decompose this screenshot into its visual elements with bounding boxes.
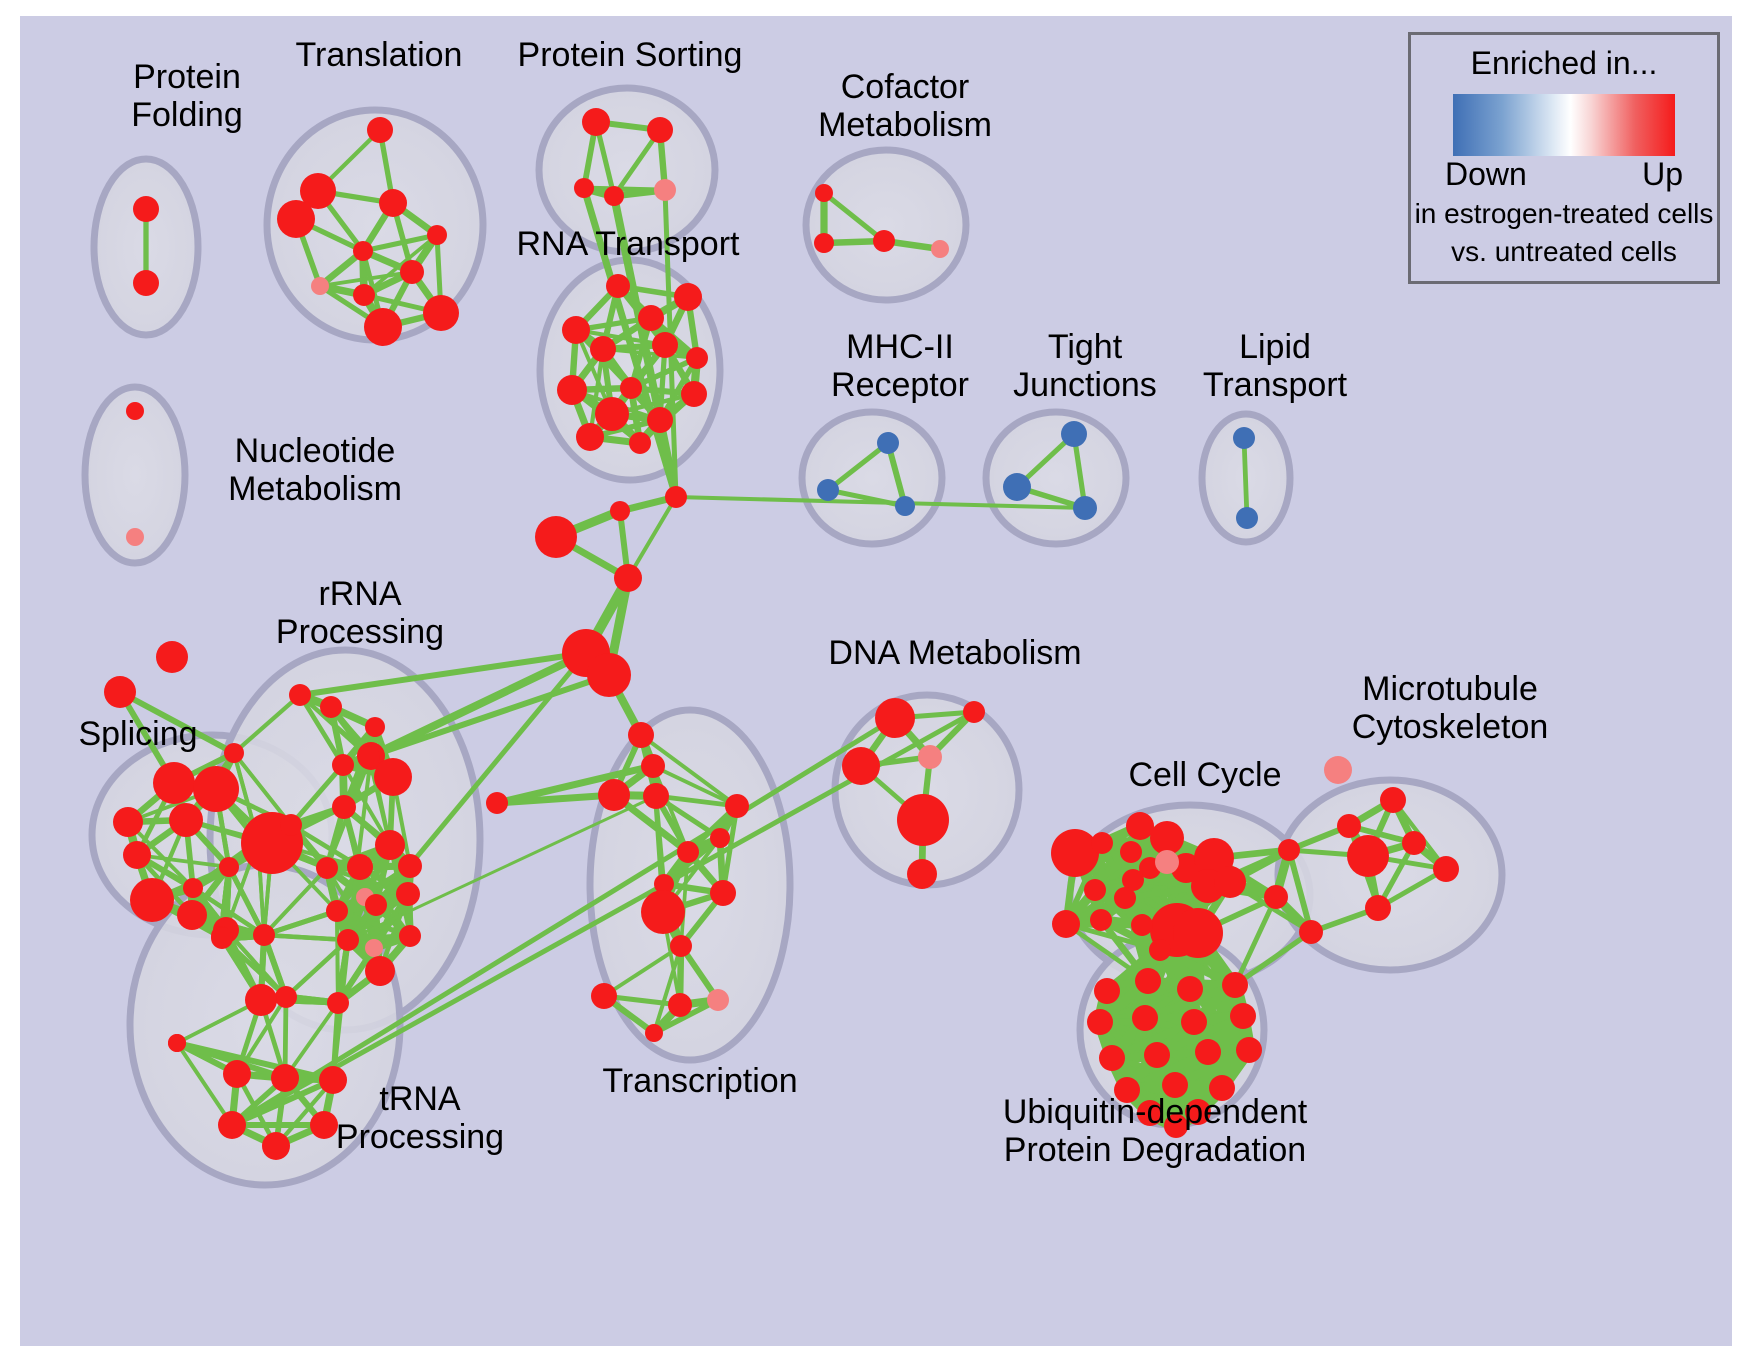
network-node[interactable] [126,528,144,546]
network-node[interactable] [641,754,665,778]
cluster-label-rrna_processing: rRNA Processing [250,575,470,651]
figure-canvas: Protein FoldingTranslationNucleotide Met… [0,0,1750,1360]
network-node[interactable] [598,779,630,811]
network-node[interactable] [327,992,349,1014]
network-node[interactable] [364,308,402,346]
cluster-label-nucleotide_metabolism: Nucleotide Metabolism [190,432,440,508]
network-node[interactable] [277,200,315,238]
network-node[interactable] [670,935,692,957]
network-node[interactable] [1073,496,1097,520]
network-node[interactable] [224,743,244,763]
network-node[interactable] [177,900,207,930]
network-node[interactable] [365,717,385,737]
network-node[interactable] [130,878,174,922]
network-node[interactable] [931,240,949,258]
network-node[interactable] [126,402,144,420]
network-node[interactable] [1236,507,1258,529]
network-node[interactable] [817,479,839,501]
network-node[interactable] [1061,421,1087,447]
network-node[interactable] [365,956,395,986]
cluster-label-microtubule_cytoskeleton: Microtubule Cytoskeleton [1310,670,1590,746]
network-node[interactable] [1278,839,1300,861]
network-node[interactable] [1230,1003,1256,1029]
network-node[interactable] [591,983,617,1009]
network-node[interactable] [347,854,373,880]
network-node[interactable] [1099,1045,1125,1071]
cluster-ellipse-mhc2_receptor [802,412,942,544]
network-node[interactable] [629,432,651,454]
legend-title: Enriched in... [1411,45,1717,82]
network-node[interactable] [223,1060,251,1088]
network-node[interactable] [332,754,354,776]
network-node[interactable] [156,641,188,673]
network-node[interactable] [873,230,895,252]
cluster-label-transcription: Transcription [575,1062,825,1100]
network-node[interactable] [1195,1039,1221,1065]
network-node[interactable] [211,927,233,949]
cluster-label-protein_sorting: Protein Sorting [500,36,760,74]
network-node[interactable] [280,814,302,836]
network-node[interactable] [253,924,275,946]
network-node[interactable] [374,758,412,796]
legend-high-label: Up [1642,156,1683,193]
cluster-label-lipid_transport: Lipid Transport [1175,328,1375,404]
network-node[interactable] [316,857,338,879]
network-node[interactable] [875,698,915,738]
network-node[interactable] [1051,829,1099,877]
network-node[interactable] [897,794,949,846]
network-node[interactable] [1084,879,1106,901]
network-node[interactable] [1132,1005,1158,1031]
network-node[interactable] [353,241,373,261]
network-node[interactable] [353,284,375,306]
network-node[interactable] [104,676,136,708]
cluster-label-tight_junctions: Tight Junctions [985,328,1185,404]
network-node[interactable] [1299,920,1323,944]
network-node[interactable] [1214,866,1246,898]
cluster-label-ubiquitin_degradation: Ubiquitin-dependent Protein Degradation [985,1093,1325,1169]
network-node[interactable] [638,305,664,331]
network-node[interactable] [1087,1009,1113,1035]
network-node[interactable] [486,792,508,814]
legend-panel: Enriched in... Down Up in estrogen-treat… [1408,32,1720,284]
network-node[interactable] [365,939,383,957]
network-node[interactable] [1233,427,1255,449]
network-node[interactable] [400,260,424,284]
network-node[interactable] [647,407,673,433]
network-node[interactable] [1324,756,1352,784]
network-node[interactable] [907,859,937,889]
network-node[interactable] [113,807,143,837]
cluster-ellipse-cofactor_metabolism [806,150,966,300]
network-node[interactable] [677,841,699,863]
network-node[interactable] [595,397,629,431]
network-node[interactable] [1222,972,1248,998]
network-node[interactable] [535,516,577,558]
network-node[interactable] [133,196,159,222]
network-node[interactable] [153,762,195,804]
network-node[interactable] [1052,910,1080,938]
network-node[interactable] [1173,908,1223,958]
network-node[interactable] [815,184,833,202]
network-node[interactable] [275,986,297,1008]
legend-caption-line-2: vs. untreated cells [1411,235,1717,269]
network-node[interactable] [842,747,880,785]
cluster-label-protein_folding: Protein Folding [82,58,292,134]
network-node[interactable] [707,989,729,1011]
network-node[interactable] [358,746,380,768]
network-node[interactable] [262,1132,290,1160]
network-node[interactable] [219,857,239,877]
network-node[interactable] [610,501,630,521]
network-node[interactable] [133,270,159,296]
network-node[interactable] [1131,914,1153,936]
network-node[interactable] [123,841,151,869]
network-node[interactable] [574,178,594,198]
cluster-label-trna_processing: tRNA Processing [310,1080,530,1156]
network-node[interactable] [877,432,899,454]
network-node[interactable] [168,1034,186,1052]
network-node[interactable] [654,179,676,201]
cluster-label-mhc2_receptor: MHC-II Receptor [800,328,1000,404]
network-node[interactable] [1090,909,1112,931]
network-node[interactable] [1337,814,1361,838]
network-node[interactable] [399,925,421,947]
network-node[interactable] [332,795,356,819]
network-node[interactable] [193,766,239,812]
network-node[interactable] [337,929,359,951]
network-node[interactable] [1120,841,1142,863]
network-node[interactable] [674,283,702,311]
network-node[interactable] [245,984,277,1016]
network-node[interactable] [271,1064,299,1092]
network-node[interactable] [1135,968,1161,994]
network-node[interactable] [686,347,708,369]
network-node[interactable] [1433,856,1459,882]
network-node[interactable] [1094,978,1120,1004]
network-node[interactable] [1347,835,1389,877]
network-node[interactable] [576,423,604,451]
network-node[interactable] [1402,831,1426,855]
network-node[interactable] [1003,473,1031,501]
network-node[interactable] [590,336,616,362]
network-node[interactable] [681,381,707,407]
network-node[interactable] [645,1024,663,1042]
network-node[interactable] [367,117,393,143]
network-node[interactable] [379,189,407,217]
network-node[interactable] [365,894,387,916]
network-node[interactable] [320,696,342,718]
network-node[interactable] [665,486,687,508]
network-node[interactable] [1114,887,1136,909]
legend-gradient-bar [1453,94,1675,156]
network-node[interactable] [218,1111,246,1139]
network-node[interactable] [1181,1009,1207,1035]
network-node[interactable] [1264,885,1288,909]
network-node[interactable] [620,377,642,399]
network-node[interactable] [604,186,624,206]
network-node[interactable] [375,830,405,860]
network-node[interactable] [643,783,669,809]
network-node[interactable] [628,722,654,748]
network-node[interactable] [1365,895,1391,921]
network-node[interactable] [183,878,203,898]
network-node[interactable] [1150,821,1184,855]
network-node[interactable] [311,277,329,295]
legend-low-label: Down [1445,156,1527,193]
cluster-label-splicing: Splicing [58,715,218,753]
network-node[interactable] [652,332,678,358]
network-node[interactable] [1126,812,1154,840]
network-node[interactable] [895,496,915,516]
network-node[interactable] [606,274,630,298]
network-node[interactable] [647,117,673,143]
cluster-label-cell_cycle: Cell Cycle [1105,756,1305,794]
network-node[interactable] [668,993,692,1017]
network-node[interactable] [326,900,348,922]
cluster-label-dna_metabolism: DNA Metabolism [815,634,1095,672]
network-node[interactable] [169,803,203,837]
cluster-label-translation: Translation [264,36,494,74]
network-node[interactable] [1155,850,1179,874]
network-node[interactable] [963,701,985,723]
network-node[interactable] [396,882,420,906]
network-node[interactable] [289,684,311,706]
network-node[interactable] [641,890,685,934]
network-node[interactable] [562,316,590,344]
network-node[interactable] [587,653,631,697]
cluster-label-cofactor_metabolism: Cofactor Metabolism [790,68,1020,144]
network-node[interactable] [398,854,422,878]
network-node[interactable] [1091,832,1113,854]
network-node[interactable] [710,880,736,906]
network-node[interactable] [427,225,447,245]
network-node[interactable] [557,375,587,405]
network-node[interactable] [1177,976,1203,1002]
legend-caption-line-1: in estrogen-treated cells [1411,197,1717,231]
network-node[interactable] [1236,1037,1262,1063]
network-node[interactable] [614,564,642,592]
network-node[interactable] [1380,787,1406,813]
network-node[interactable] [423,295,459,331]
network-node[interactable] [1149,939,1171,961]
network-node[interactable] [710,828,730,848]
network-node[interactable] [725,794,749,818]
network-node[interactable] [1144,1042,1170,1068]
network-node[interactable] [582,108,610,136]
network-edge [1244,438,1247,518]
network-node[interactable] [814,233,834,253]
network-node[interactable] [918,745,942,769]
cluster-label-rna_transport: RNA Transport [498,225,758,263]
